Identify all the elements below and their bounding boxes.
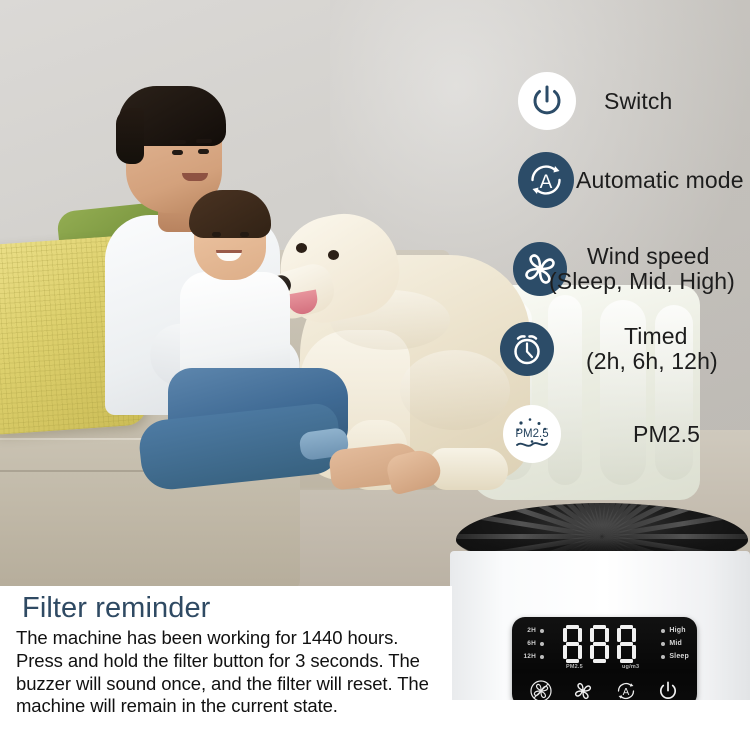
display-label-pm25: PM2.5 [566, 664, 583, 670]
mode-indicator-high[interactable]: High [661, 627, 689, 634]
timer-label-6h: 6H [520, 640, 536, 647]
timer-led-12h [540, 655, 544, 659]
dog-paw [430, 448, 508, 490]
feature-switch: Switch [518, 72, 672, 130]
timer-indicator-12h[interactable]: 12H [520, 653, 544, 660]
display-label-unit: ug/m3 [622, 664, 639, 670]
man-eyebrow [170, 140, 186, 144]
svg-text:PM2.5: PM2.5 [515, 428, 548, 440]
man-mouth [182, 173, 208, 181]
pm25-digital-display [562, 625, 637, 663]
boy-eye [212, 232, 221, 237]
poster-canvas: Switch A Automatic mode [0, 0, 750, 750]
boy-hair [189, 190, 271, 238]
man-eye [198, 149, 209, 154]
display-digit-3 [616, 625, 637, 663]
timer-indicator-group: 2H 6H 12H [520, 627, 544, 660]
timer-led-6h [540, 642, 544, 646]
boy-eye [240, 232, 249, 237]
mode-led-mid [661, 642, 665, 646]
timed-sub: (2h, 6h, 12h) [586, 349, 718, 374]
mode-indicator-group: High Mid Sleep [661, 627, 689, 660]
mode-label-sleep: Sleep [669, 653, 689, 660]
power-icon [656, 679, 680, 703]
display-digit-1 [562, 625, 583, 663]
timer-label-12h: 12H [520, 653, 536, 660]
mode-indicator-sleep[interactable]: Sleep [661, 653, 689, 660]
pm25-sensor-icon: PM2.5 [503, 405, 561, 463]
timed-main: Timed [624, 323, 688, 349]
fan-crossed-filter-icon [529, 679, 553, 703]
timer-label-2h: 2H [520, 627, 536, 634]
timer-led-2h [540, 629, 544, 633]
man-sideburn [116, 108, 144, 164]
timer-indicator-6h[interactable]: 6H [520, 640, 544, 647]
feature-timed: Timed (2h, 6h, 12h) [500, 322, 718, 376]
auto-a-icon: A [614, 679, 638, 703]
mode-label-mid: Mid [669, 640, 682, 647]
wind-speed-sub: (Sleep, Mid, High) [549, 269, 735, 294]
filter-reminder-body: The machine has been working for 1440 ho… [16, 627, 438, 718]
dog-eye [328, 250, 339, 260]
dog-fur-highlight [400, 350, 510, 430]
feature-timed-label: Timed (2h, 6h, 12h) [572, 324, 718, 374]
feature-wind-speed: Wind speed (Sleep, Mid, High) [513, 242, 735, 296]
feature-automatic-mode-label: Automatic mode [576, 168, 744, 193]
fan-icon [571, 679, 595, 703]
automatic-mode-icon: A [518, 152, 574, 208]
control-panel[interactable]: 2H 6H 12H [512, 617, 697, 707]
boy-shirt [180, 272, 290, 382]
mode-indicator-mid[interactable]: Mid [661, 640, 689, 647]
timer-indicator-2h[interactable]: 2H [520, 627, 544, 634]
feature-pm25: PM2.5 PM2.5 [503, 405, 700, 463]
wind-speed-main: Wind speed [587, 243, 709, 269]
feature-automatic-mode: A Automatic mode [518, 152, 744, 208]
power-switch-icon [518, 72, 576, 130]
mode-label-high: High [669, 627, 685, 634]
feature-wind-speed-label: Wind speed (Sleep, Mid, High) [587, 244, 735, 294]
alarm-clock-timer-icon [500, 322, 554, 376]
mode-led-sleep [661, 655, 665, 659]
filter-reminder-card: Filter reminder The machine has been wor… [0, 586, 452, 750]
svg-text:A: A [540, 172, 553, 193]
mode-led-high [661, 629, 665, 633]
svg-text:A: A [622, 687, 629, 698]
dog-eye [296, 243, 307, 253]
bottom-white-fill [452, 700, 750, 750]
feature-switch-label: Switch [604, 89, 672, 114]
feature-pm25-label: PM2.5 [633, 422, 700, 447]
man-eyebrow [196, 139, 212, 143]
page-title: Filter reminder [22, 592, 438, 625]
man-eye [172, 150, 183, 155]
display-digit-2 [589, 625, 610, 663]
